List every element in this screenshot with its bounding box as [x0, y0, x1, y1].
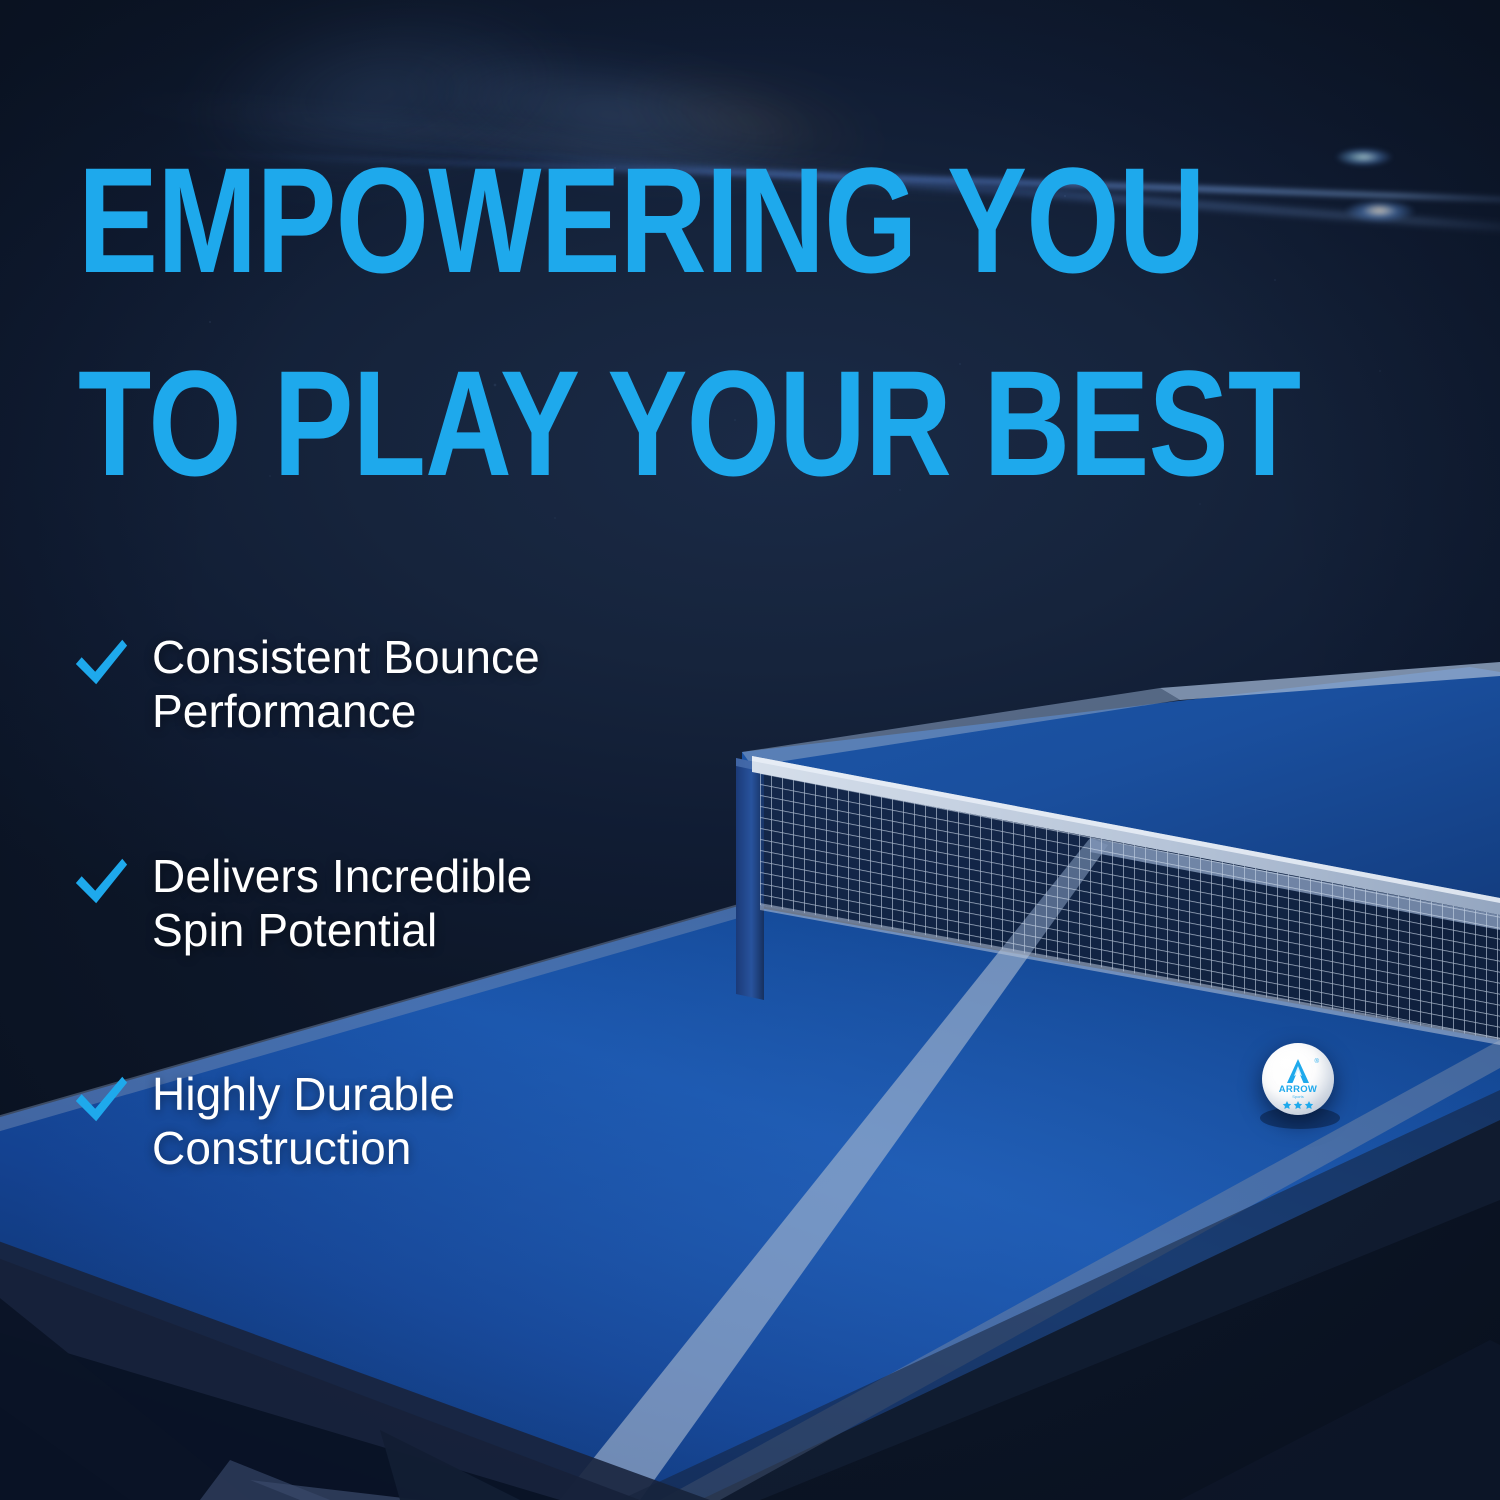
ping-pong-ball: ® ARROW Sports: [1262, 1043, 1334, 1115]
check-icon: [72, 853, 130, 911]
check-icon: [72, 634, 130, 692]
registered-mark: ®: [1315, 1058, 1320, 1065]
feature-text: Highly Durable Construction: [152, 1067, 455, 1176]
feature-line-1: Highly Durable: [152, 1067, 455, 1121]
headline-line-2: TO PLAY YOUR BEST: [78, 353, 974, 494]
feature-line-1: Delivers Incredible: [152, 849, 532, 903]
net-post: [736, 758, 764, 1000]
list-item: Highly Durable Construction: [72, 1067, 732, 1176]
feature-list: Consistent Bounce Performance Delivers I…: [72, 630, 732, 1176]
feature-line-2: Performance: [152, 684, 540, 738]
feature-line-1: Consistent Bounce: [152, 630, 540, 684]
list-item: Delivers Incredible Spin Potential: [72, 849, 732, 958]
check-icon: [72, 1071, 130, 1129]
brand-subtext: Sports: [1292, 1094, 1304, 1099]
poster-canvas: EMPOWERING YOU TO PLAY YOUR BEST Consist…: [0, 0, 1500, 1500]
feature-text: Delivers Incredible Spin Potential: [152, 849, 532, 958]
headline-line-1: EMPOWERING YOU: [78, 136, 1205, 304]
feature-text: Consistent Bounce Performance: [152, 630, 540, 739]
feature-line-2: Spin Potential: [152, 903, 532, 957]
feature-line-2: Construction: [152, 1121, 455, 1175]
page-title: EMPOWERING YOU TO PLAY YOUR BEST: [78, 150, 974, 494]
arrow-brand-logo: ® ARROW Sports: [1262, 1043, 1334, 1115]
list-item: Consistent Bounce Performance: [72, 630, 732, 739]
star-rating-icons: [1283, 1101, 1313, 1109]
